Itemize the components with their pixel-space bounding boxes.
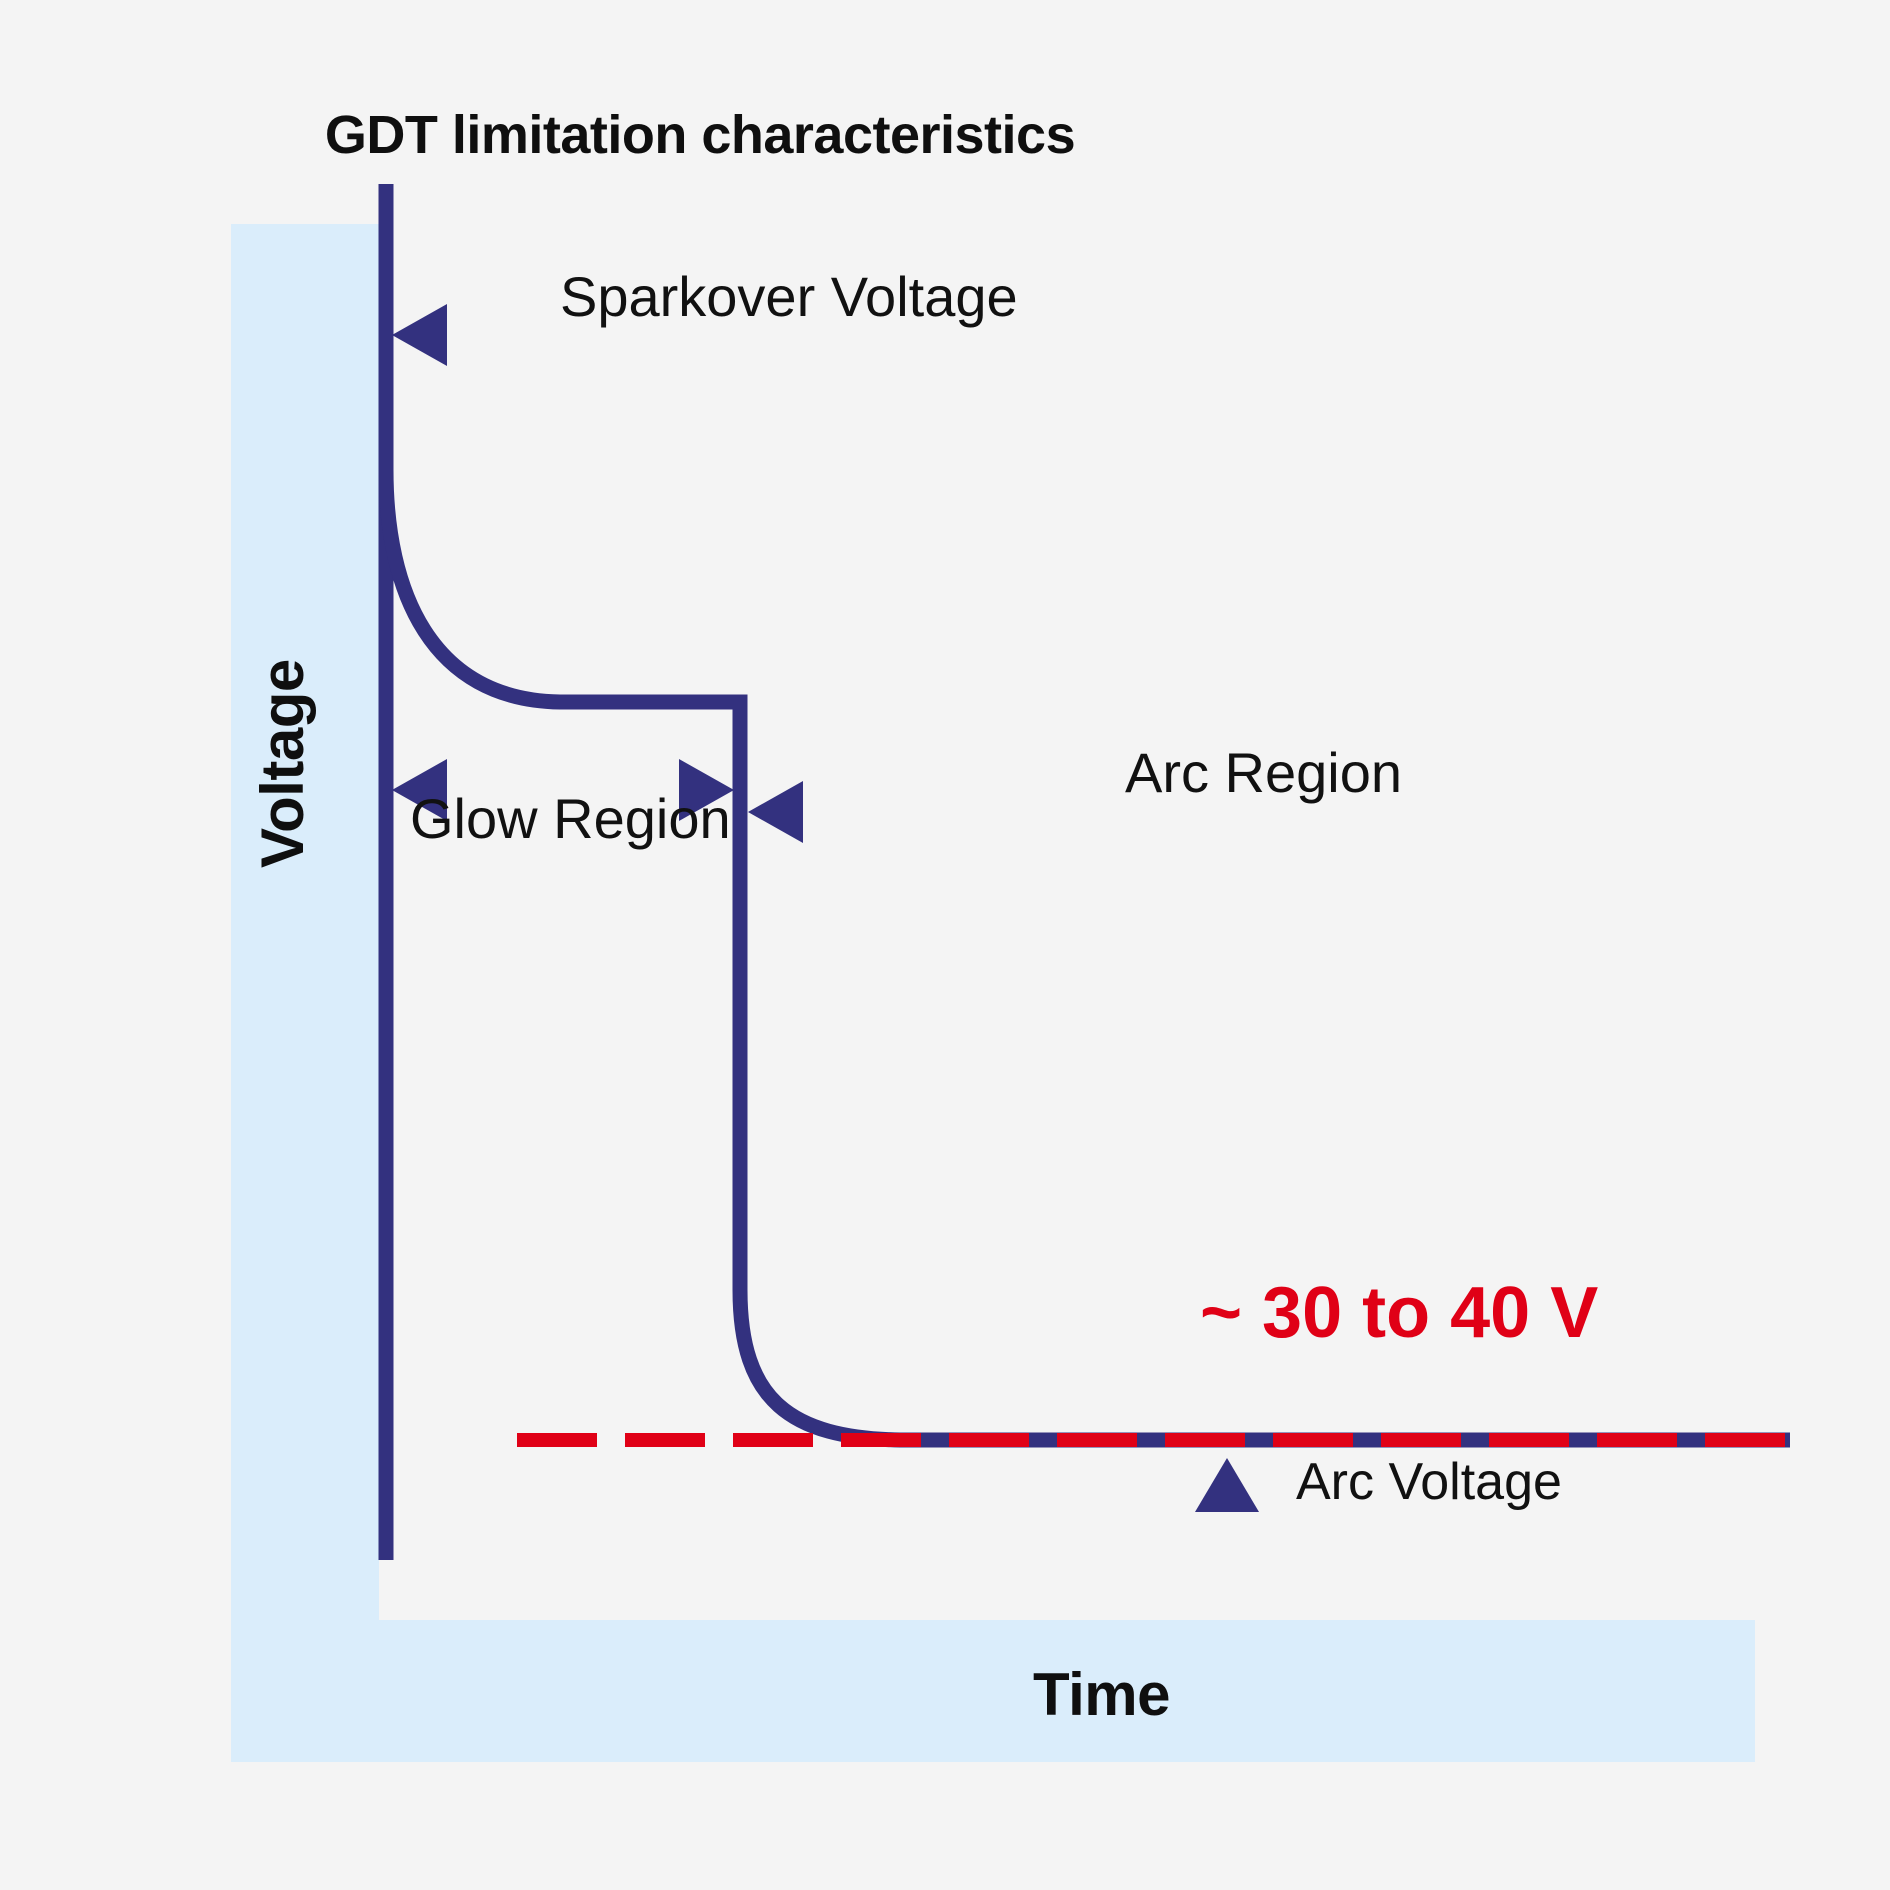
arc-voltage-label: Arc Voltage [1296, 1452, 1562, 1512]
left-triangle-icon-arc-region [748, 781, 803, 843]
voltage-range-callout: ~ 30 to 40 V [1200, 1272, 1598, 1354]
x-axis-label: Time [1033, 1660, 1170, 1729]
arc-region-label: Arc Region [1125, 740, 1402, 805]
up-triangle-icon-arc-voltage [1195, 1458, 1259, 1512]
gdt-characteristics-figure: GDT limitation characteristics Voltage T… [0, 0, 1890, 1890]
sparkover-voltage-label: Sparkover Voltage [560, 264, 1018, 329]
y-axis-label: Voltage [248, 648, 324, 868]
left-triangle-icon-sparkover [392, 304, 447, 366]
glow-region-label: Glow Region [410, 786, 731, 851]
y-axis-label-text: Voltage [248, 648, 317, 868]
